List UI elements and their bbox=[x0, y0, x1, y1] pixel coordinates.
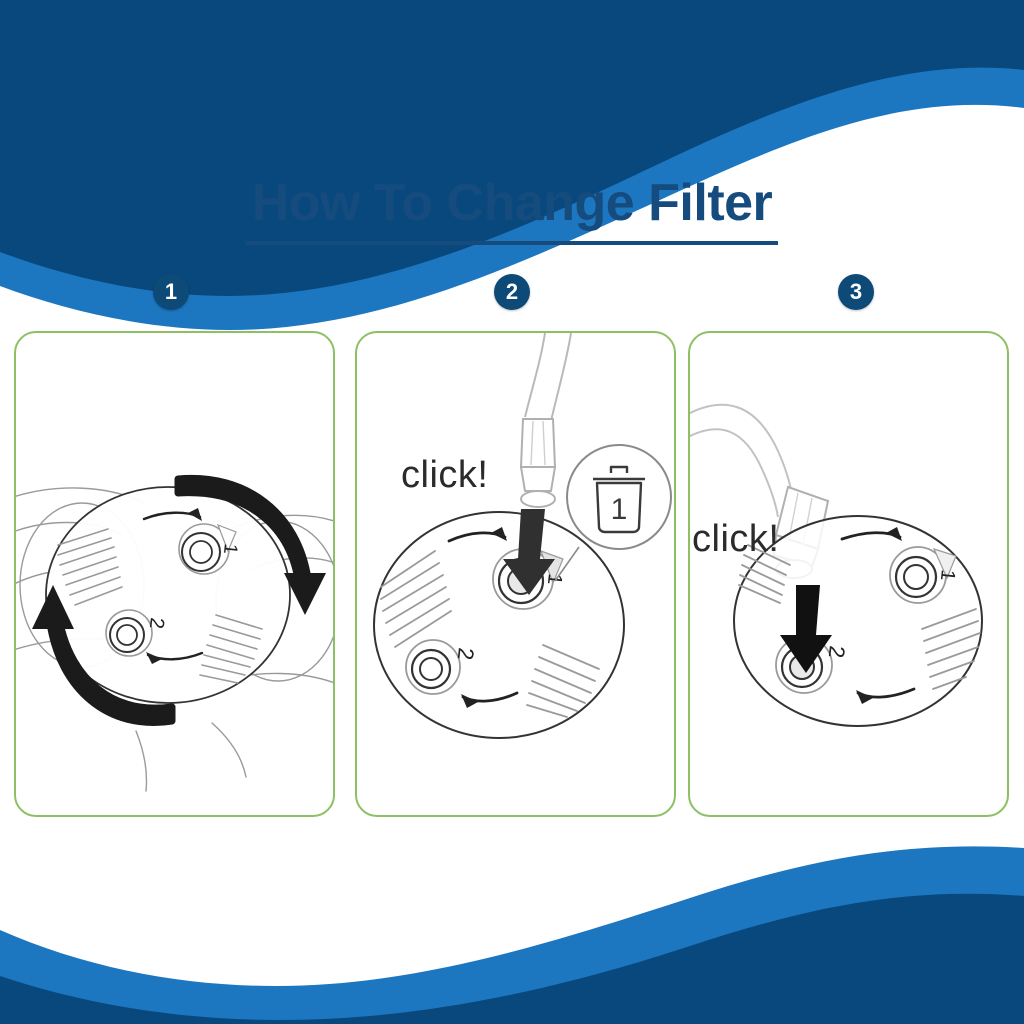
step-3-illustration: 1 2 bbox=[690, 333, 1007, 815]
page-title-wrap: How To Change Filter bbox=[0, 176, 1024, 245]
port-2-number: 2 bbox=[824, 644, 850, 659]
instruction-graphic: How To Change Filter 1 2 3 bbox=[0, 0, 1024, 1024]
port-2-number: 2 bbox=[453, 646, 479, 661]
step-panel-2: 1 2 bbox=[355, 331, 676, 817]
page-title: How To Change Filter bbox=[246, 176, 779, 245]
step-badges: 1 2 3 bbox=[0, 274, 1024, 314]
step-badge-2: 2 bbox=[494, 274, 530, 310]
port-1-number: 1 bbox=[543, 572, 566, 585]
click-label-step-2: click! bbox=[401, 454, 488, 497]
hose-tube bbox=[525, 333, 571, 421]
click-label-step-3: click! bbox=[692, 518, 779, 561]
step-panel-3: 1 2 bbox=[688, 331, 1009, 817]
step-badge-1: 1 bbox=[153, 274, 189, 310]
step-badge-3: 3 bbox=[838, 274, 874, 310]
filter-face-outline bbox=[374, 512, 624, 738]
step-2-illustration: 1 2 bbox=[357, 333, 674, 815]
port-1-number: 1 bbox=[219, 542, 241, 555]
hose-tube bbox=[690, 405, 792, 517]
step-1-illustration: 1 2 bbox=[16, 333, 333, 815]
callout-number: 1 bbox=[611, 493, 628, 526]
step-panel-1: 1 2 bbox=[14, 331, 335, 817]
port-1-number: 1 bbox=[936, 568, 959, 581]
port-2-number: 2 bbox=[145, 616, 168, 629]
tube-connector bbox=[521, 419, 555, 507]
